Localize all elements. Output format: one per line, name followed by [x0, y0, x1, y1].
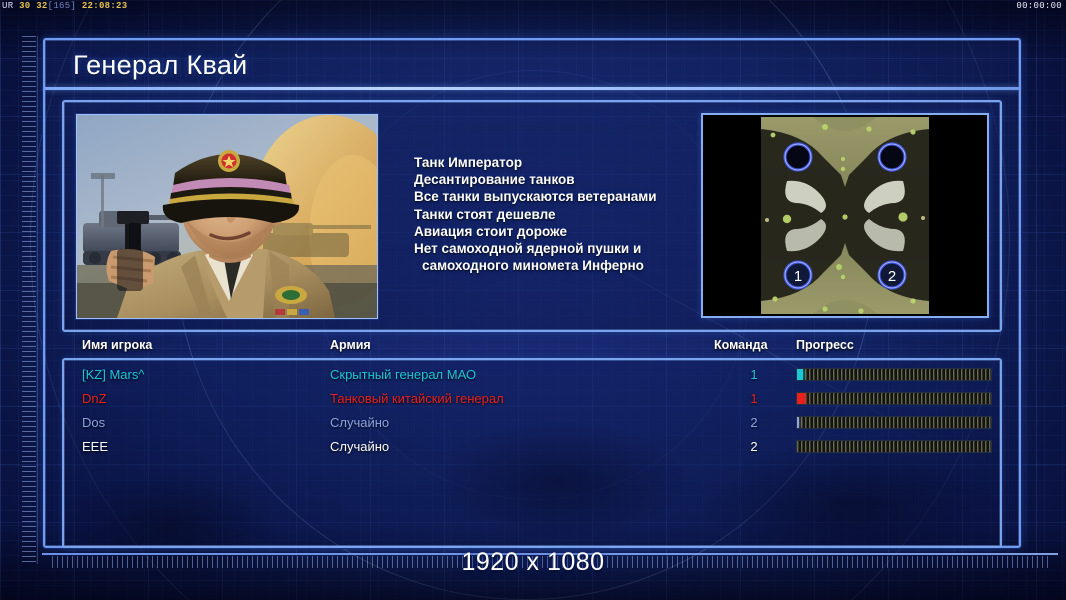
bonus-line: Десантирование танков: [414, 171, 734, 188]
header-progress: Прогресс: [796, 338, 854, 352]
progress-bar: [796, 392, 992, 405]
minimap-image: 1 2: [703, 115, 987, 316]
player-army[interactable]: Случайно: [330, 412, 389, 434]
bonus-line: самоходного миномета Инферно: [414, 257, 734, 274]
player-army[interactable]: Случайно: [330, 436, 389, 458]
top-status-right: 00:00:00: [1016, 0, 1062, 13]
progress-fill: [797, 369, 803, 380]
start-position-marker-2: 2: [879, 262, 905, 288]
progress-bar: [796, 440, 992, 453]
progress-fill: [797, 417, 799, 428]
progress-track: [797, 369, 991, 380]
start-position-marker: [785, 144, 811, 170]
player-list: [KZ] Mars^Скрытный генерал МАО1DnZТанков…: [62, 364, 1002, 460]
general-portrait-image: [77, 115, 377, 318]
general-bonus-list: Танк Император Десантирование танков Все…: [414, 154, 734, 274]
progress-fill: [797, 393, 805, 404]
progress-track: [797, 441, 991, 452]
player-team[interactable]: 2: [740, 436, 768, 458]
player-team[interactable]: 1: [740, 388, 768, 410]
top-status-bar: UR 30 32[165] 22:08:23 00:00:00: [0, 0, 1066, 13]
resolution-overlay: 1920 x 1080: [0, 548, 1066, 577]
player-name: EEE: [82, 436, 108, 458]
status-bracket: [165]: [48, 1, 77, 11]
player-name: DnZ: [82, 388, 107, 410]
table-row[interactable]: DnZТанковый китайский генерал1: [62, 388, 1002, 412]
header-army: Армия: [330, 338, 371, 352]
bonus-line: Танки стоят дешевле: [414, 206, 734, 223]
bonus-line: Авиация стоит дороже: [414, 223, 734, 240]
game-screen: UR 30 32[165] 22:08:23 00:00:00 Генерал …: [0, 0, 1066, 600]
progress-track: [797, 393, 991, 404]
general-portrait: [76, 114, 378, 319]
title-bar: Генерал Квай: [45, 40, 1019, 90]
table-headers: Имя игрока Армия Команда Прогресс: [62, 338, 1002, 358]
minimap[interactable]: 1 2: [701, 113, 989, 318]
status-clock: 22:08:23: [82, 1, 128, 11]
player-team[interactable]: 1: [740, 364, 768, 386]
header-team: Команда: [714, 338, 768, 352]
top-status-left: UR 30 32[165] 22:08:23: [2, 0, 127, 13]
status-num2: 32: [36, 1, 47, 11]
general-info-panel: Танк Император Десантирование танков Все…: [62, 100, 1002, 332]
left-ruler: [22, 36, 36, 564]
progress-bar: [796, 368, 992, 381]
bonus-line: Все танки выпускаются ветеранами: [414, 188, 734, 205]
progress-bar: [796, 416, 992, 429]
player-name: Dos: [82, 412, 105, 434]
header-player-name: Имя игрока: [82, 338, 152, 352]
table-row[interactable]: [KZ] Mars^Скрытный генерал МАО1: [62, 364, 1002, 388]
player-team[interactable]: 2: [740, 412, 768, 434]
bonus-line: Танк Император: [414, 154, 734, 171]
page-title: Генерал Квай: [73, 50, 248, 81]
svg-text:1: 1: [794, 268, 802, 285]
table-row[interactable]: EEEСлучайно2: [62, 436, 1002, 460]
svg-text:2: 2: [888, 268, 896, 285]
status-prefix: UR: [2, 1, 13, 11]
progress-track: [797, 417, 991, 428]
start-position-marker: [879, 144, 905, 170]
player-army[interactable]: Танковый китайский генерал: [330, 388, 504, 410]
player-army[interactable]: Скрытный генерал МАО: [330, 364, 476, 386]
table-row[interactable]: DosСлучайно2: [62, 412, 1002, 436]
start-position-marker-1: 1: [785, 262, 811, 288]
status-num1: 30: [19, 1, 30, 11]
player-name: [KZ] Mars^: [82, 364, 144, 386]
bonus-line: Нет самоходной ядерной пушки и: [414, 240, 734, 257]
